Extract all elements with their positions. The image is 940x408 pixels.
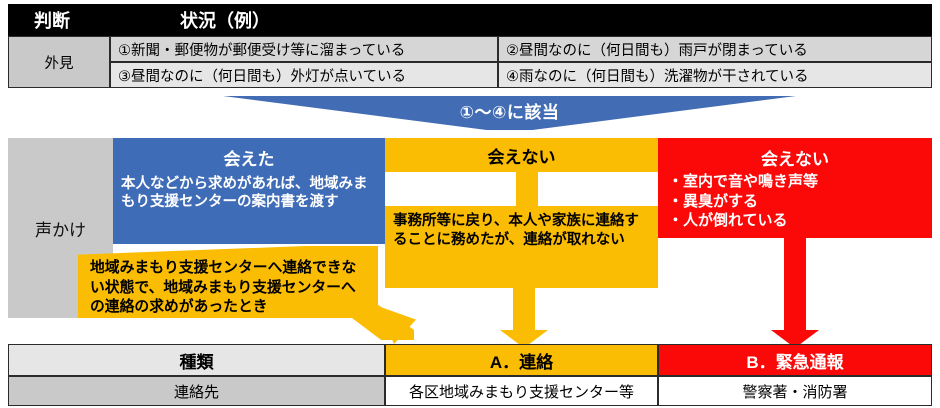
top-table-row-label: 外見 [8,36,110,88]
top-table-cell-4: ④雨なのに（何日間も）洗濯物が干されている [498,62,932,88]
outcome-box-emergency: 会えない ・室内で音や鳴き声等 ・異臭がする ・人が倒れている [658,138,932,238]
outcome-box-unreachable-body-box: 事務所等に戻り、本人や家族に連絡することに務めたが、連絡が取れない [385,206,658,288]
outcome-box-emergency-title: 会えない [658,138,932,170]
bottom-table-header-col3: B．緊急通報 [658,344,932,376]
outcome-box-unreachable-title: 会えない [488,143,556,168]
condition-chevron-arrow: ①〜④に該当 [223,96,796,130]
outcome-box-emergency-item-1: ・室内で音や鳴き声等 [668,172,932,192]
bottom-table-header-col1: 種類 [8,344,385,376]
top-table-cell-3-text: ③昼間なのに（何日間も）外灯が点いている [118,65,406,86]
bottom-table-cell-contact-a: 各区地域みまもり支援センター等 [385,376,658,406]
bottom-table-row-label: 連絡先 [8,376,385,406]
bottom-table-cell-contact-b: 警察著・消防署 [658,376,932,406]
top-table-cell-2: ②昼間なのに（何日間も）雨戸が閉まっている [498,36,932,62]
flowchart-diagram: 判断 状況（例） 外見 ①新聞・郵便物が郵便受け等に溜まっている ②昼間なのに（… [0,0,940,408]
outcome-box-unreachable-body: 事務所等に戻り、本人や家族に連絡することに務めたが、連絡が取れない [393,213,639,248]
bottom-table-header-col3-label: B．緊急通報 [746,348,843,373]
outcome-box-emergency-item-2: ・異臭がする [668,192,932,212]
bottom-table-row-label-text: 連絡先 [174,381,219,402]
top-table-cell-2-text: ②昼間なのに（何日間も）雨戸が閉まっている [506,39,808,60]
callout-contact-condition: 地域みまもり支援センターへ連絡できない状態で、地域みまもり支援センターへの連絡の… [78,246,378,318]
bottom-table-header-col1-label: 種類 [180,348,214,373]
outcome-box-met-title: 会えた [113,138,385,170]
yellow-connector-stem [516,172,538,206]
top-table-row-label-text: 外見 [45,52,74,73]
outcome-box-met-body: 本人などから求めがあれば、地域みまもり支援センターの案内書を渡す [113,170,385,212]
outcome-box-emergency-item-3: ・人が倒れている [668,211,932,231]
outcome-box-met: 会えた 本人などから求めがあれば、地域みまもり支援センターの案内書を渡す [113,138,385,244]
bottom-table-header-col2-label: A．連絡 [490,348,553,373]
bottom-table-cell-contact-a-text: 各区地域みまもり支援センター等 [409,381,634,402]
bottom-table-header-col2: A．連絡 [385,344,658,376]
outcome-box-unreachable-header: 会えない [385,138,658,172]
middle-row-side-label-text: 声かけ [35,216,86,241]
condition-chevron-label: ①〜④に該当 [460,98,560,123]
top-table-cell-3: ③昼間なのに（何日間も）外灯が点いている [110,62,498,88]
top-table-header-row: 判断 状況（例） [8,4,932,36]
callout-contact-condition-text: 地域みまもり支援センターへ連絡できない状態で、地域みまもり支援センターへの連絡の… [78,246,378,318]
red-arrow-stem [784,238,806,330]
top-table-header-col2: 状況（例） [180,7,932,33]
top-table-header-col1: 判断 [8,7,180,33]
top-table-cell-1: ①新聞・郵便物が郵便受け等に溜まっている [110,36,498,62]
top-table-cell-1-text: ①新聞・郵便物が郵便受け等に溜まっている [118,39,405,60]
top-table-header-col2-label: 状況（例） [180,11,270,31]
yellow-arrow-stem [513,288,535,330]
top-table-cell-4-text: ④雨なのに（何日間も）洗濯物が干されている [506,65,809,86]
top-table-header-col1-label: 判断 [8,11,70,31]
bottom-table-cell-contact-b-text: 警察著・消防署 [742,381,847,402]
